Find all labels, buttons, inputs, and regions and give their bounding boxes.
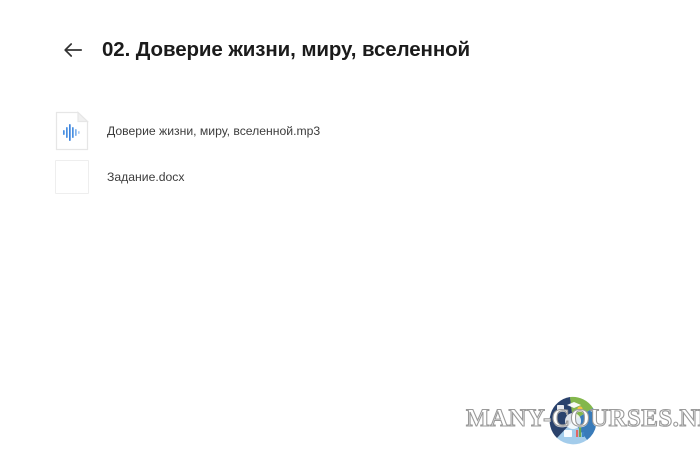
watermark: MANY-COURSES.NET (466, 392, 686, 450)
audio-file-icon (55, 111, 89, 151)
arrow-left-icon (62, 41, 84, 59)
file-list: Доверие жизни, миру, вселенной.mp3 Задан… (55, 108, 320, 200)
page-header: 02. Доверие жизни, миру, вселенной (0, 30, 470, 70)
back-button[interactable] (52, 30, 94, 70)
page-title: 02. Доверие жизни, миру, вселенной (102, 40, 470, 61)
list-item[interactable]: Задание.docx (55, 154, 320, 200)
list-item[interactable]: Доверие жизни, миру, вселенной.mp3 (55, 108, 320, 154)
blank-file-icon (55, 160, 89, 194)
file-name: Задание.docx (107, 171, 184, 183)
file-name: Доверие жизни, миру, вселенной.mp3 (107, 125, 320, 137)
watermark-text: MANY-COURSES.NET (466, 406, 686, 431)
